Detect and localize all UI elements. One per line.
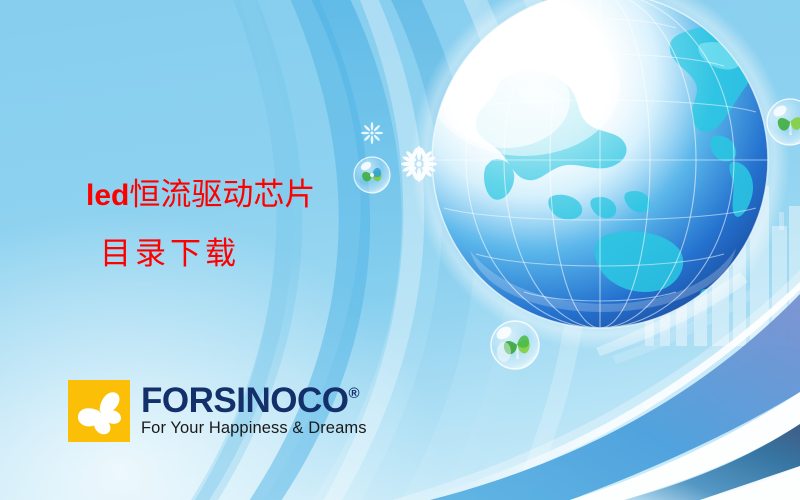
headline-block: led恒流驱动芯片 目录下载: [86, 166, 446, 283]
headline-line-2: 目录下载: [86, 225, 446, 283]
logo-wordmark: FORSINOCO ®: [141, 384, 367, 418]
headline-cjk-text: 恒流驱动芯片: [129, 177, 315, 212]
logo-text-block: FORSINOCO ® For Your Happiness & Dreams: [141, 384, 367, 438]
registered-trademark-icon: ®: [348, 386, 359, 401]
promo-banner: led恒流驱动芯片 目录下载 FORSINOCO ® For Your Happ…: [0, 0, 800, 500]
four-petal-pinwheel-icon: [68, 380, 130, 442]
headline-latin-text: led: [86, 179, 129, 212]
company-logo[interactable]: FORSINOCO ® For Your Happiness & Dreams: [68, 380, 367, 442]
logo-tagline: For Your Happiness & Dreams: [141, 419, 367, 438]
logo-wordmark-text: FORSINOCO: [141, 384, 348, 418]
headline-line-1: led恒流驱动芯片: [86, 166, 446, 225]
